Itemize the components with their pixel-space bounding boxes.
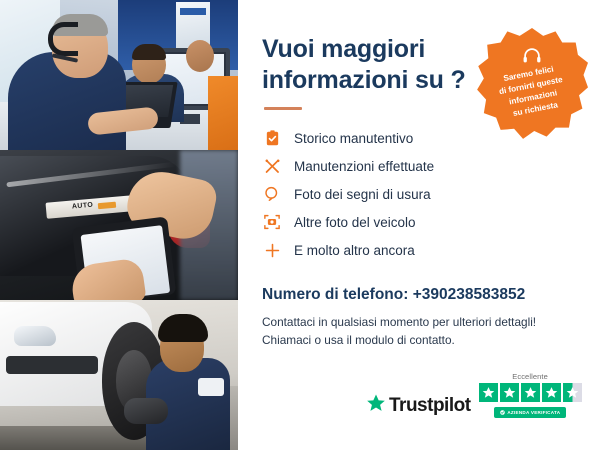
car-headlight xyxy=(14,326,56,346)
magnifier-icon xyxy=(262,184,282,204)
feature-list: Storico manutentivo Manutenzioni effettu… xyxy=(262,124,578,264)
list-item-label: Storico manutentivo xyxy=(294,131,413,146)
trustpilot-logo: Trustpilot xyxy=(366,393,471,418)
orange-object xyxy=(208,76,238,150)
check-circle-icon xyxy=(500,410,505,416)
phone-number[interactable]: Numero di telefono: +390238583852 xyxy=(262,286,578,304)
list-item: Manutenzioni effettuate xyxy=(262,152,578,180)
list-item-label: Foto dei segni di usura xyxy=(294,187,431,202)
star-half xyxy=(563,383,582,402)
trustpilot-star-icon xyxy=(366,393,386,418)
third-agent-head xyxy=(186,40,214,72)
trustpilot-rating-block: Eccellente AZIENDA VERIFICATA xyxy=(479,372,582,418)
vehicle-inspection-tablet-photo xyxy=(0,150,238,300)
content-panel: Vuoi maggiori informazioni su ? Storico … xyxy=(238,0,600,450)
plus-icon xyxy=(262,240,282,260)
list-item: Altre foto del veicolo xyxy=(262,208,578,236)
trustpilot-wordmark: Trustpilot xyxy=(389,395,471,417)
verified-label: AZIENDA VERIFICATA xyxy=(507,410,560,415)
second-agent-hair xyxy=(132,44,166,60)
star-filled xyxy=(542,383,561,402)
call-center-agents-photo xyxy=(0,0,238,150)
contact-subcopy: Contattaci in qualsiasi momento per ulte… xyxy=(262,313,578,350)
photo-column xyxy=(0,0,238,450)
headline-line-2: informazioni su ? xyxy=(262,66,466,94)
list-item-label: Manutenzioni effettuate xyxy=(294,159,434,174)
mechanic-glove xyxy=(124,398,168,424)
list-item: E molto altro ancora xyxy=(262,236,578,264)
mechanic-hair xyxy=(158,314,208,342)
status-badge: AZIENDA VERIFICATA xyxy=(494,407,566,418)
list-item-label: Altre foto del veicolo xyxy=(294,215,416,230)
camera-frame-icon xyxy=(262,212,282,232)
title-divider xyxy=(264,107,302,110)
promo-poster: Vuoi maggiori informazioni su ? Storico … xyxy=(0,0,600,450)
crossed-tools-icon xyxy=(262,156,282,176)
subcopy-line-1: Contattaci in qualsiasi momento per ulte… xyxy=(262,315,536,329)
car-grille xyxy=(6,356,98,374)
headset-worn-icon xyxy=(48,22,78,56)
star-rating xyxy=(479,383,582,402)
star-filled xyxy=(521,383,540,402)
rating-label: Eccellente xyxy=(512,372,548,381)
headline-line-1: Vuoi maggiori xyxy=(262,35,425,63)
clipboard-check-icon xyxy=(262,128,282,148)
uniform-patch xyxy=(198,378,224,396)
list-item-label: E molto altro ancora xyxy=(294,243,415,258)
star-filled xyxy=(500,383,519,402)
list-item: Foto dei segni di usura xyxy=(262,180,578,208)
mechanic-wheel-service-photo xyxy=(0,300,238,450)
callout-badge: Saremo felici di fornirti queste informa… xyxy=(476,28,588,140)
trustpilot-widget[interactable]: Trustpilot Eccellente AZIENDA VERIFICATA xyxy=(366,372,582,418)
star-filled xyxy=(479,383,498,402)
subcopy-line-2: Chiamaci o usa il modulo di contatto. xyxy=(262,333,455,347)
